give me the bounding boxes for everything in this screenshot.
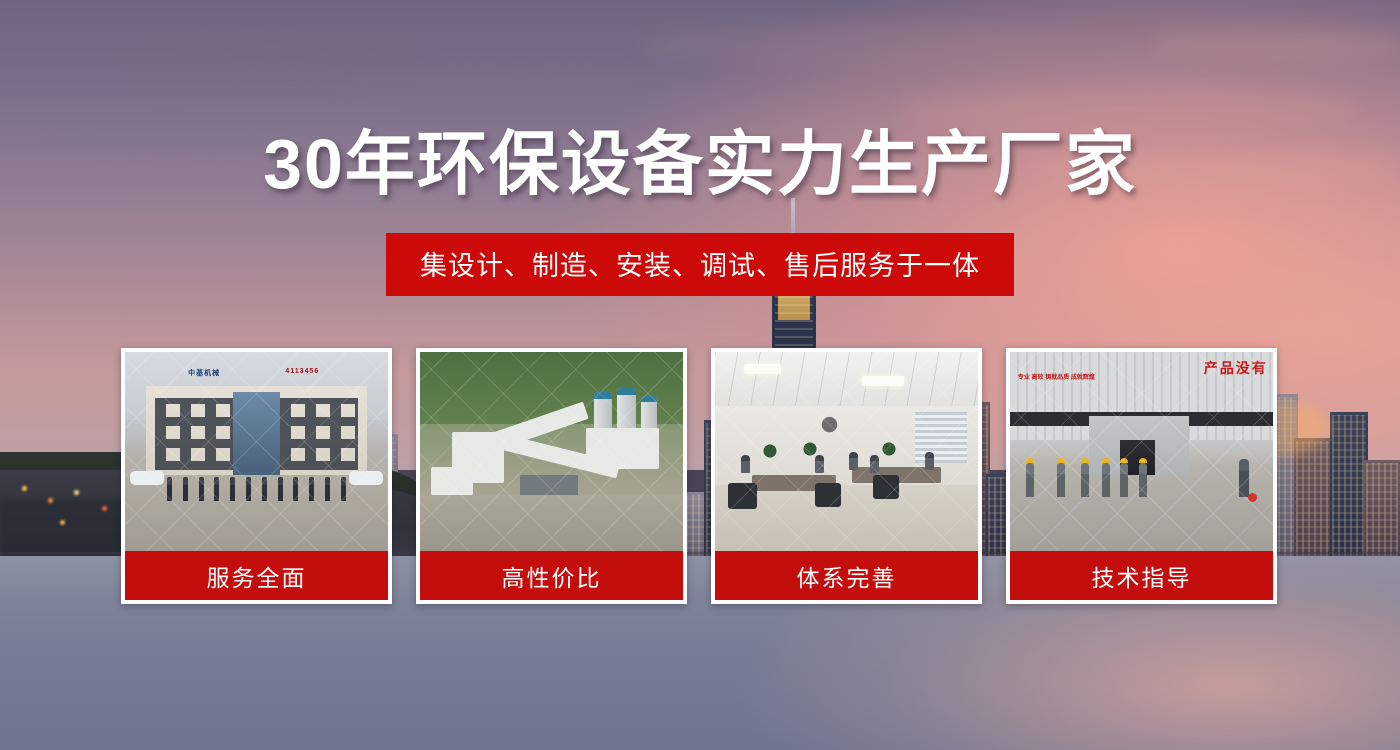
card-caption: 体系完善 xyxy=(715,551,978,600)
factory-workers-training-photo: 产品没有 专业 高效 铸就品质 成就辉煌 xyxy=(1010,352,1273,551)
feature-card-value[interactable]: 高性价比 xyxy=(416,348,687,604)
card-caption: 技术指导 xyxy=(1010,551,1273,600)
subtitle-banner: 集设计、制造、安装、调试、售后服务于一体 xyxy=(386,233,1014,296)
factory-sign-text: 产品没有 xyxy=(1204,358,1268,378)
feature-card-system[interactable]: 体系完善 xyxy=(711,348,982,604)
feature-card-list: 中基机械 4113456 服务全面 xyxy=(121,348,1279,604)
feature-card-guidance[interactable]: 产品没有 专业 高效 铸就品质 成就辉煌 技术指导 xyxy=(1006,348,1277,604)
card-caption: 服务全面 xyxy=(125,551,388,600)
building-phone-text: 4113456 xyxy=(285,368,319,375)
office-interior-photo xyxy=(715,352,978,551)
page-title: 30年环保设备实力生产厂家 xyxy=(0,129,1400,199)
factory-slogan-text: 专业 高效 铸就品质 成就辉煌 xyxy=(1018,374,1095,383)
card-caption: 高性价比 xyxy=(420,551,683,600)
building-sign-text: 中基机械 xyxy=(188,368,220,378)
promo-banner: 30年环保设备实力生产厂家 集设计、制造、安装、调试、售后服务于一体 中基机械 … xyxy=(0,0,1400,750)
feature-card-service[interactable]: 中基机械 4113456 服务全面 xyxy=(121,348,392,604)
production-plant-aerial-photo xyxy=(420,352,683,551)
company-headquarters-photo: 中基机械 4113456 xyxy=(125,352,388,551)
